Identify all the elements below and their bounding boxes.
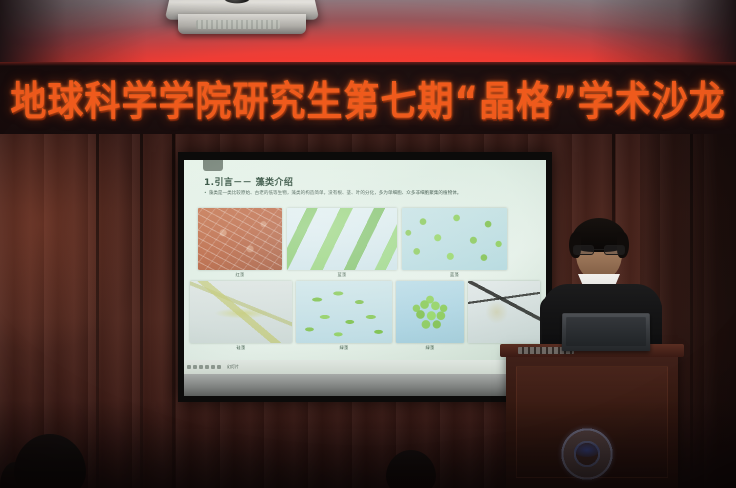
lecture-hall-photo: 地球科学学院研究生第七期“晶格”学术沙龙 1.引言－－ 藻类介绍 •藻类是一类比… bbox=[0, 0, 736, 488]
thumb-caption: 蓝藻 bbox=[402, 270, 507, 278]
toolbar-icon-3[interactable] bbox=[199, 365, 203, 369]
slide-thumb: 硅藻 bbox=[190, 281, 292, 343]
thumb-caption: 绿藻 bbox=[396, 343, 464, 351]
thumb-caption: 蓝藻 bbox=[287, 270, 397, 278]
thumb-caption: 绿藻 bbox=[296, 343, 392, 351]
toolbar-icon-4[interactable] bbox=[205, 365, 209, 369]
slide-status-bar[interactable]: 幻灯片 中文 bbox=[184, 360, 546, 374]
foreground-shadow bbox=[0, 400, 736, 488]
microscopy-image-green-algae-scatter bbox=[296, 281, 392, 343]
projection-screen: 1.引言－－ 藻类介绍 •藻类是一类比较原始、古老的低等生物，藻类的构造简单，没… bbox=[184, 160, 546, 396]
toolbar-icon-1[interactable] bbox=[187, 365, 191, 369]
projector-lens-icon bbox=[224, 0, 250, 3]
microscopy-image-red-algae bbox=[198, 208, 282, 270]
screen-lower-panel bbox=[184, 374, 546, 396]
glasses-bridge bbox=[594, 249, 604, 250]
presentation-slide: 1.引言－－ 藻类介绍 •藻类是一类比较原始、古老的低等生物，藻类的构造简单，没… bbox=[184, 160, 546, 374]
glasses-icon bbox=[573, 245, 625, 255]
slide-notch bbox=[203, 160, 223, 171]
laptop-screen bbox=[566, 317, 646, 346]
toolbar-icon-6[interactable] bbox=[217, 365, 221, 369]
microscopy-image-diatom bbox=[190, 281, 292, 343]
microscopy-image-filament-algae bbox=[287, 208, 397, 270]
slide-thumb: 蓝藻 bbox=[287, 208, 397, 270]
glasses-lens-right bbox=[604, 245, 625, 255]
slide-thumb: 绿藻 bbox=[296, 281, 392, 343]
microscopy-image-cell-algae bbox=[402, 208, 507, 270]
slide-title: 1.引言－－ 藻类介绍 bbox=[204, 175, 293, 188]
bullet-body: 藻类是一类比较原始、古老的低等生物，藻类的构造简单，没有根、茎、叶的分化，多为单… bbox=[209, 191, 462, 196]
toolbar-icon-5[interactable] bbox=[211, 365, 215, 369]
slide-thumb: 红藻 bbox=[198, 208, 282, 270]
microscopy-image-dinoflagellate bbox=[468, 281, 540, 343]
slide-image-row-top: 红藻 蓝藻 蓝藻 bbox=[198, 208, 534, 270]
slide-bullet-text: •藻类是一类比较原始、古老的低等生物，藻类的构造简单，没有根、茎、叶的分化，多为… bbox=[204, 190, 522, 197]
projector-vent bbox=[196, 20, 280, 29]
slide-image-row-bottom: 硅藻 绿藻 绿藻 甲藻 bbox=[190, 281, 542, 343]
wall-light-pool bbox=[0, 134, 200, 434]
bullet-marker: • bbox=[204, 190, 207, 197]
microscopy-image-green-algae-colony bbox=[396, 281, 464, 343]
slide-thumb: 甲藻 bbox=[468, 281, 540, 343]
toolbar-icon-2[interactable] bbox=[193, 365, 197, 369]
glasses-lens-left bbox=[573, 245, 594, 255]
thumb-caption: 红藻 bbox=[198, 270, 282, 278]
status-bar-left-label: 幻灯片 bbox=[227, 364, 239, 370]
laptop[interactable] bbox=[562, 313, 650, 351]
event-banner: 地球科学学院研究生第七期“晶格”学术沙龙 bbox=[0, 62, 736, 134]
slide-thumb: 蓝藻 bbox=[402, 208, 507, 270]
slide-thumb: 绿藻 bbox=[396, 281, 464, 343]
banner-title: 地球科学学院研究生第七期“晶格”学术沙龙 bbox=[0, 62, 736, 134]
thumb-caption: 硅藻 bbox=[190, 343, 292, 351]
